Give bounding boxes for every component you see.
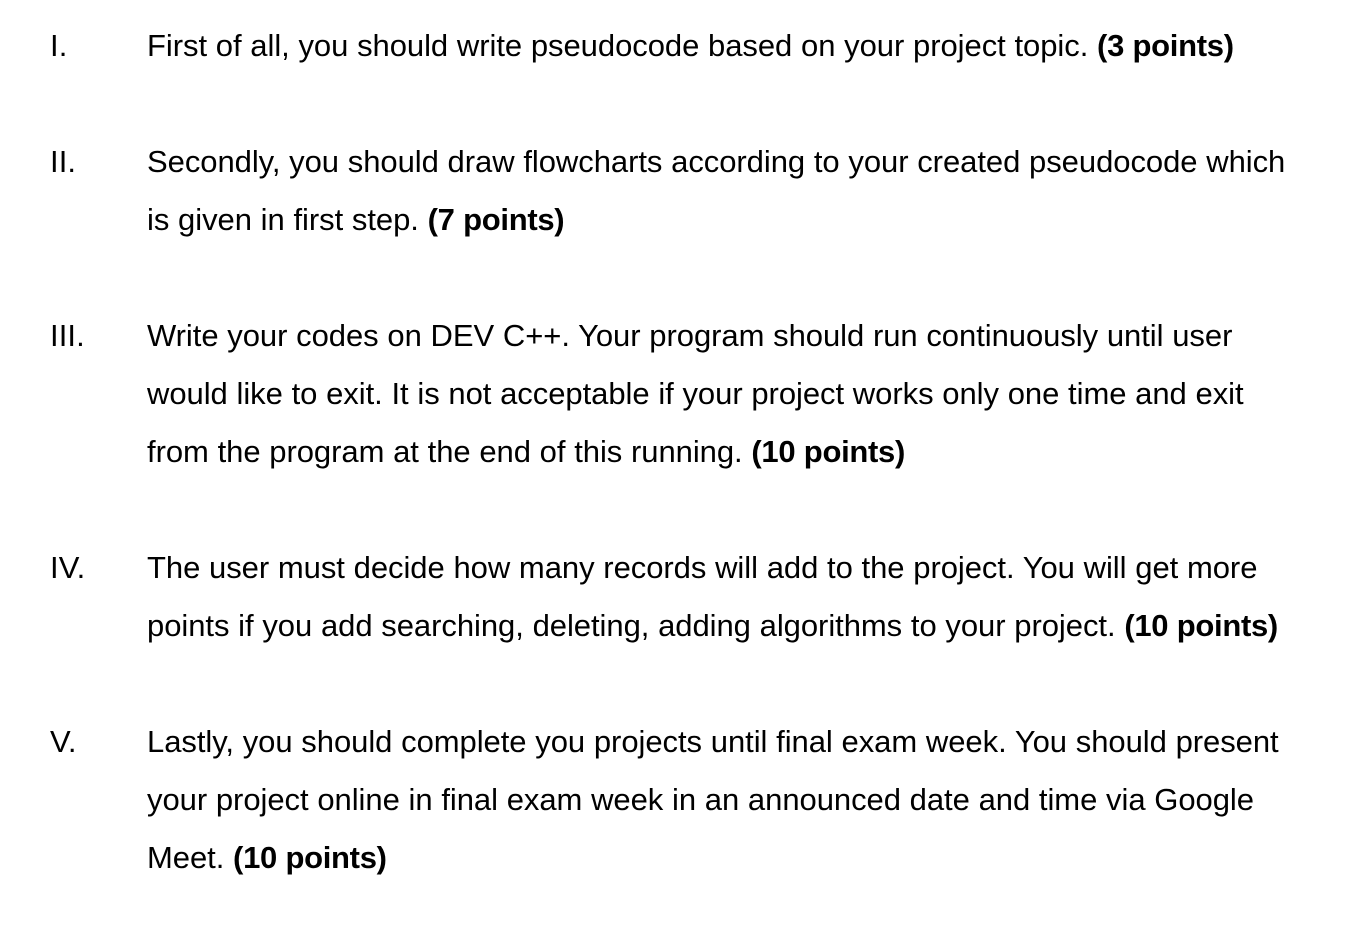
list-item-points: (3 points) [1097,28,1234,63]
list-item-points: (7 points) [428,202,565,237]
list-item-body: First of all, you should write pseudocod… [147,28,1308,121]
list-item: III. Write your codes on DEV C++. Your p… [0,307,1346,539]
list-item-text: Secondly, you should draw flowcharts acc… [147,144,1285,237]
list-item-text: The user must decide how many records wi… [147,550,1257,643]
list-item-body: Lastly, you should complete you projects… [147,724,1308,933]
list-item-marker: I. [50,17,140,75]
list-item: IV. The user must decide how many record… [0,539,1346,713]
list-item-points: (10 points) [233,840,387,875]
list-item-text: Write your codes on DEV C++. Your progra… [147,318,1244,469]
list-item-marker: IV. [50,539,140,597]
list-item-marker: III. [50,307,140,365]
document-page: I. First of all, you should write pseudo… [0,0,1346,652]
list-item: II. Secondly, you should draw flowcharts… [0,133,1346,307]
list-item: V. Lastly, you should complete you proje… [0,713,1346,945]
list-item-marker: II. [50,133,140,191]
list-item-text: First of all, you should write pseudocod… [147,28,1097,63]
list-item-body: Secondly, you should draw flowcharts acc… [147,144,1308,295]
list-item-body: Write your codes on DEV C++. Your progra… [147,318,1308,527]
list-item: I. First of all, you should write pseudo… [0,17,1346,133]
list-item-points: (10 points) [751,434,905,469]
list-item-body: The user must decide how many records wi… [147,550,1308,701]
instructions-list: I. First of all, you should write pseudo… [0,17,1346,945]
list-item-points: (10 points) [1124,608,1278,643]
list-item-marker: V. [50,713,140,771]
